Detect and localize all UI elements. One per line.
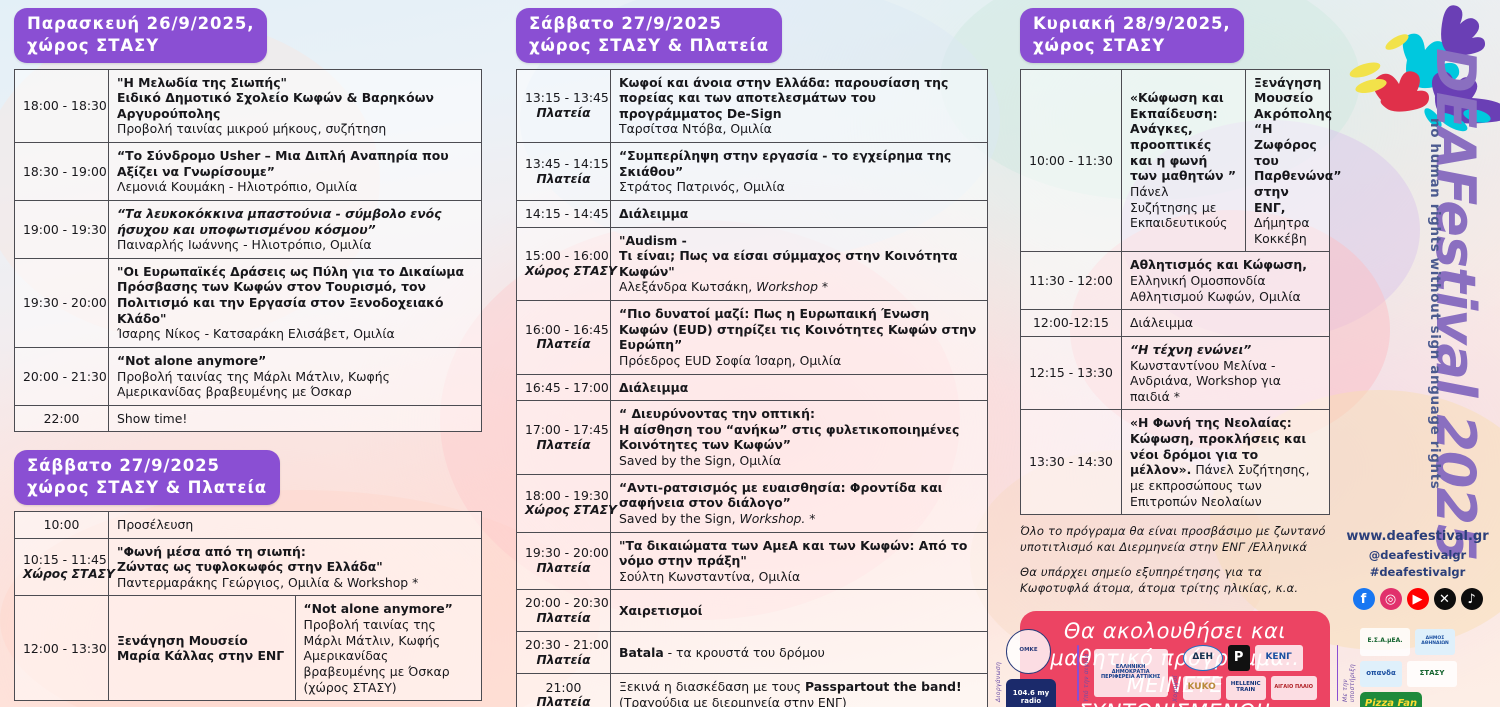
venue-text: Πλατεία <box>525 337 602 352</box>
logo-radio: 104.6 my radio <box>1006 679 1056 707</box>
cell-event: “ Διευρύνοντας την οπτική: Η αίσθηση του… <box>611 401 988 475</box>
column-friday: Παρασκευή 26/9/2025, χώρος ΣΤΑΣΥ 18:00 -… <box>14 8 482 701</box>
venue-text: Πλατεία <box>525 172 602 187</box>
social-handle[interactable]: @deafestivalgr <box>1335 547 1500 564</box>
table-row: 13:30 - 14:30 «Η Φωνή της Νεολαίας: Κώφω… <box>1021 410 1330 515</box>
cell-time: 10:00 - 11:30 <box>1021 69 1122 252</box>
logo-pizza-fan: Pizza Fan <box>1360 692 1422 707</box>
cell-time: 11:30 - 12:00 <box>1021 252 1122 310</box>
day-badge-friday: Παρασκευή 26/9/2025, χώρος ΣΤΑΣΥ <box>14 8 267 63</box>
table-row: 18:00 - 18:30 "Η Μελωδία της Σιωπής" Ειδ… <box>15 69 482 143</box>
event-sub: Στράτος Πατρινός, Ομιλία <box>619 179 785 194</box>
day-badge-saturday: Σάββατο 27/9/2025 χώρος ΣΤΑΣΥ & Πλατεία <box>516 8 782 63</box>
cell-event: “Πιο δυνατοί μαζί: Πως η Ευρωπαική Ένωση… <box>611 301 988 375</box>
logo-p: P <box>1228 645 1250 671</box>
cell-time: 12:00 - 13:30 <box>15 596 109 701</box>
festival-tagline: no human rights without sign anguage rig… <box>1427 118 1443 489</box>
logo-hellenic-train: HELLENIC TRAIN <box>1226 676 1266 700</box>
event-sub: Show time! <box>117 411 187 426</box>
cell-time: 22:00 <box>15 405 109 432</box>
cell-event: Κωφοί και άνοια στην Ελλάδα: παρουσίαση … <box>611 69 988 143</box>
table-row: 20:00 - 21:30 “Not alone anymore” Προβολ… <box>15 347 482 405</box>
venue-text: Πλατεία <box>525 611 602 626</box>
x-icon[interactable]: ✕ <box>1434 588 1456 610</box>
event-title: “Not alone anymore” <box>117 353 266 368</box>
accessibility-note-1: Όλο το πρόγραμα θα είναι προσβάσιμο με ζ… <box>1020 524 1330 556</box>
time-text: 13:45 - 14:15 <box>525 156 609 171</box>
cell-time: 16:00 - 16:45Πλατεία <box>517 301 611 375</box>
cell-event: “Συμπερίληψη στην εργασία - το εγχείρημα… <box>611 143 988 201</box>
cell-time: 12:15 - 13:30 <box>1021 336 1122 410</box>
cell-event: Show time! <box>109 405 482 432</box>
cell-time: 13:45 - 14:15Πλατεία <box>517 143 611 201</box>
table-row: 20:00 - 20:30ΠλατείαΧαιρετισμοί <box>517 590 988 632</box>
table-row: 12:15 - 13:30 “Η τέχνη ενώνει” Κωνσταντί… <box>1021 336 1330 410</box>
cell-time: 13:30 - 14:30 <box>1021 410 1122 515</box>
day-badge-sunday: Κυριακή 28/9/2025, χώρος ΣΤΑΣΥ <box>1020 8 1244 63</box>
cell-time: 18:00 - 18:30 <box>15 69 109 143</box>
time-text: 14:15 - 14:45 <box>525 206 609 221</box>
event-title: Διάλειμμα <box>619 206 688 221</box>
time-text: 17:00 - 17:45 <box>525 422 609 437</box>
venue-text: Χώρος ΣΤΑΣΥ <box>525 264 602 279</box>
event-sub: Ταρσίτσα Ντόβα, Ομιλία <box>619 121 772 136</box>
column-sunday: Κυριακή 28/9/2025, χώρος ΣΤΑΣΥ 10:00 - 1… <box>1020 8 1330 707</box>
event-sub: Προβολή ταινίας της Μάρλι Μάτλιν, Κωφής … <box>117 369 390 400</box>
cell-time: 16:45 - 17:00 <box>517 374 611 401</box>
venue-text: Πλατεία <box>525 106 602 121</box>
time-text: 18:00 - 19:30 <box>525 488 609 503</box>
cell-event: “Το Σύνδρομο Usher – Μια Διπλή Αναπηρία … <box>109 143 482 201</box>
facebook-icon[interactable]: f <box>1353 588 1375 610</box>
table-row: 19:30 - 20:00Πλατεία"Τα δικαιώματα των Α… <box>517 532 988 590</box>
logo-opanda: οπανδα <box>1360 661 1402 687</box>
cell-event: Προσέλευση <box>109 511 482 538</box>
cell-time: 19:00 - 19:30 <box>15 200 109 258</box>
time-text: 13:15 - 13:45 <box>525 90 609 105</box>
logo-dei: ΔΕΗ <box>1183 645 1223 671</box>
logo-dimos-athinaion: ΔΗΜΟΣ ΑΘΗΝΑΙΩΝ <box>1415 629 1455 655</box>
event-title: Ξενάγηση Μουσείο Ακρόπολης “Η Ζωφόρος το… <box>1254 75 1341 215</box>
social-links: f◎▶✕♪ <box>1335 588 1500 610</box>
instagram-icon[interactable]: ◎ <box>1380 588 1402 610</box>
column-saturday: Σάββατο 27/9/2025 χώρος ΣΤΑΣΥ & Πλατεία … <box>516 8 988 707</box>
badge-line2: χώρος ΣΤΑΣΥ & Πλατεία <box>529 35 769 57</box>
event-title: “Συμπερίληψη στην εργασία - το εγχείρημα… <box>619 148 951 179</box>
time-text: 20:30 - 21:00 <box>525 637 609 652</box>
event-title: “Τα λευκοκόκκινα μπαστούνια - σύμβολο εν… <box>117 206 442 237</box>
event-title: “Πιο δυνατοί μαζί: Πως η Ευρωπαική Ένωση… <box>619 306 976 352</box>
venue-text: Πλατεία <box>525 695 602 707</box>
cell-time: 10:00 <box>15 511 109 538</box>
event-title: Διάλειμμα <box>619 380 688 395</box>
table-row: 19:00 - 19:30 “Τα λευκοκόκκινα μπαστούνι… <box>15 200 482 258</box>
schedule-table-sunday: 10:00 - 11:30 «Κώφωση και Εκπαίδευση: Αν… <box>1020 69 1330 516</box>
cell-event: Αθλητισμός και Κώφωση, Ελληνική Ομοσπονδ… <box>1122 252 1330 310</box>
cell-event: Διάλειμμα <box>1122 310 1330 337</box>
table-row: 16:00 - 16:45Πλατεία“Πιο δυνατοί μαζί: Π… <box>517 301 988 375</box>
venue-text: Πλατεία <box>525 561 602 576</box>
badge-line2: χώρος ΣΤΑΣΥ & Πλατεία <box>27 477 267 499</box>
event-sub: Διάλειμμα <box>1130 315 1193 330</box>
youtube-icon[interactable]: ▶ <box>1407 588 1429 610</box>
event-sub: Σούλτη Κωνσταντίνα, Ομιλία <box>619 569 800 584</box>
cell-time: 19:30 - 20:00 <box>15 258 109 347</box>
table-row: 22:00 Show time! <box>15 405 482 432</box>
cell-time: 13:15 - 13:45Πλατεία <box>517 69 611 143</box>
cell-event: "Φωνή μέσα από τη σιωπή: Ζώντας ως τυφλο… <box>109 538 482 596</box>
table-row: 14:15 - 14:45Διάλειμμα <box>517 200 988 227</box>
event-sub: Ίσαρης Νίκος - Κατσαράκη Ελισάβετ, Ομιλί… <box>117 326 395 341</box>
table-row: 15:00 - 16:00Χώρος ΣΤΑΣΥ"Audism - Τι είν… <box>517 227 988 301</box>
event-sub: Πάνελ Συζήτησης με Εκπαιδευτικούς <box>1130 184 1227 230</box>
event-sub: Προβολή ταινίας μικρού μήκους, συζήτηση <box>117 121 386 136</box>
sponsor-group-sponsors: ΔΕΗ P ΚΕΝΓ KUKO HELLENIC TRAIN ΑΙΓΑΙΟ ΠΛ… <box>1183 645 1333 700</box>
divider <box>1337 645 1338 701</box>
table-row: 18:30 - 19:00 “Το Σύνδρομο Usher – Μια Δ… <box>15 143 482 201</box>
divider <box>1077 645 1078 701</box>
time-text: 15:00 - 16:00 <box>525 248 609 263</box>
event-title: “Αντι-ρατσισμός με ευαισθησία: Φροντίδα … <box>619 480 943 511</box>
event-prefix: Ξεκινά η διασκέδαση με τους <box>619 679 805 694</box>
sponsor-label-organiser: Διοργάνωση <box>995 644 1002 702</box>
schedule-table-saturday-left: 10:00 Προσέλευση 10:15 - 11:45 Χώρος ΣΤΑ… <box>14 511 482 701</box>
table-row: 11:30 - 12:00 Αθλητισμός και Κώφωση, Ελλ… <box>1021 252 1330 310</box>
table-row: 10:00 Προσέλευση <box>15 511 482 538</box>
cell-event: Χαιρετισμοί <box>611 590 988 632</box>
event-title: Αθλητισμός και Κώφωση, <box>1130 257 1307 272</box>
event-sub: Saved by the Sign, Ομιλία <box>619 453 781 468</box>
table-row: 10:00 - 11:30 «Κώφωση και Εκπαίδευση: Αν… <box>1021 69 1330 252</box>
time-text: 19:30 - 20:00 <box>525 545 609 560</box>
time-text: 20:00 - 20:30 <box>525 595 609 610</box>
event-title: «Κώφωση και Εκπαίδευση: Ανάγκες, προοπτι… <box>1130 90 1236 183</box>
time-text: 21:00 <box>546 680 582 695</box>
sponsor-label-support: Με την υποστήριξη <box>1342 644 1356 702</box>
cell-event: "Τα δικαιώματα των ΑμεΑ και των Κωφών: Α… <box>611 532 988 590</box>
web-links: www.deafestival.gr @deafestivalgr #deafe… <box>1335 528 1500 580</box>
sponsor-label-sponsors: Χορηγοί <box>1172 644 1179 702</box>
website-url[interactable]: www.deafestival.gr <box>1335 528 1500 547</box>
hashtag[interactable]: #deafestivalgr <box>1335 564 1500 581</box>
logo-keng: ΚΕΝΓ <box>1255 645 1303 671</box>
cell-event: Διάλειμμα <box>611 200 988 227</box>
table-row: 17:00 - 17:45Πλατεία“ Διευρύνοντας την ο… <box>517 401 988 475</box>
event-title: Passpartout the band! <box>805 679 962 694</box>
cell-time: 21:00Πλατεία <box>517 674 611 707</box>
event-sub: Saved by the Sign, <box>619 511 740 526</box>
event-sub: Πρόεδρος EUD Σοφία Ίσαρη, Ομιλία <box>619 353 841 368</box>
cell-time: 19:30 - 20:00Πλατεία <box>517 532 611 590</box>
logo-esamea: Ε.Σ.Α.μΕΑ. <box>1360 628 1410 656</box>
time-text: 16:00 - 16:45 <box>525 322 609 337</box>
event-sub: Προβολή ταινίας της Μάρλι Μάτλιν, Κωφής … <box>304 617 450 695</box>
logo-kuko: KUKO <box>1183 676 1221 700</box>
event-sub-italic: Workshop * <box>756 279 828 294</box>
event-sub: Παιναρλής Ιωάννης - Ηλιοτρόπιο, Ομιλία <box>117 237 372 252</box>
venue-text: Πλατεία <box>525 438 602 453</box>
event-sub: (Τραγούδια με διερμηνεία στην ΕΝΓ) <box>619 695 847 707</box>
event-sub: Προσέλευση <box>117 517 193 532</box>
event-title: Batala <box>619 645 664 660</box>
event-title: "Audism - Τι είναι; Πως να είσαι σύμμαχο… <box>619 233 958 279</box>
event-sub: Κωνσταντίνου Μελίνα - Ανδριάνα, Workshop… <box>1130 358 1281 404</box>
table-row: 12:00 - 13:30 Ξενάγηση Μουσείο Μαρία Κάλ… <box>15 596 482 701</box>
table-row: 19:30 - 20:00 "Οι Ευρωπαϊκές Δράσεις ως … <box>15 258 482 347</box>
event-title: “Το Σύνδρομο Usher – Μια Διπλή Αναπηρία … <box>117 148 449 179</box>
cell-event: "Audism - Τι είναι; Πως να είσαι σύμμαχο… <box>611 227 988 301</box>
cell-time: 17:00 - 17:45Πλατεία <box>517 401 611 475</box>
table-row: 13:15 - 13:45ΠλατείαΚωφοί και άνοια στην… <box>517 69 988 143</box>
event-sub: Παντερμαράκης Γεώργιος, Ομιλία & Worksho… <box>117 575 418 590</box>
event-title: “ Διευρύνοντας την οπτική: Η αίσθηση του… <box>619 406 959 452</box>
event-title: "Οι Ευρωπαϊκές Δράσεις ως Πύλη για το Δι… <box>117 264 464 326</box>
cell-time: 14:15 - 14:45 <box>517 200 611 227</box>
event-sub: Αλεξάνδρα Κωτσάκη, <box>619 279 756 294</box>
tiktok-icon[interactable]: ♪ <box>1461 588 1483 610</box>
sponsor-strip: Διοργάνωση ΟΜΚΕ 104.6 my radio Υπό την α… <box>995 638 1500 707</box>
badge-line1: Παρασκευή 26/9/2025, <box>27 14 254 33</box>
cell-event: "Οι Ευρωπαϊκές Δράσεις ως Πύλη για το Δι… <box>109 258 482 347</box>
schedule-table-friday: 18:00 - 18:30 "Η Μελωδία της Σιωπής" Ειδ… <box>14 69 482 433</box>
event-sub: Δήμητρα Κοκκέβη <box>1254 215 1310 246</box>
event-title: Κωφοί και άνοια στην Ελλάδα: παρουσίαση … <box>619 75 948 121</box>
cell-event: “Η τέχνη ενώνει” Κωνσταντίνου Μελίνα - Α… <box>1122 336 1330 410</box>
venue-text: Χώρος ΣΤΑΣΥ <box>525 503 602 518</box>
cell-time: 18:00 - 19:30Χώρος ΣΤΑΣΥ <box>517 474 611 532</box>
badge-line1: Κυριακή 28/9/2025, <box>1033 14 1231 33</box>
event-sub: Ελληνική Ομοσπονδία Αθλητισμού Κωφών, Ομ… <box>1130 273 1301 304</box>
badge-line2: χώρος ΣΤΑΣΥ <box>27 35 254 57</box>
schedule-table-saturday: 13:15 - 13:45ΠλατείαΚωφοί και άνοια στην… <box>516 69 988 707</box>
venue-text: Πλατεία <box>525 653 602 668</box>
cell-tour: Ξενάγηση Μουσείο Ακρόπολης “Η Ζωφόρος το… <box>1246 69 1330 252</box>
event-title: Χαιρετισμοί <box>619 603 703 618</box>
sponsor-group-auspices: ΕΛΛΗΝΙΚΗ ΔΗΜΟΚΡΑΤΙΑ ΠΕΡΙΦΕΡΕΙΑ ΑΤΤΙΚΗΣ <box>1094 649 1168 697</box>
table-row: 21:00ΠλατείαΞεκινά η διασκέδαση με τους … <box>517 674 988 707</box>
sponsor-label-auspices: Υπό την αιγίδα <box>1083 644 1090 702</box>
cell-event: Διάλειμμα <box>611 374 988 401</box>
table-row: 20:30 - 21:00Πλατεία Batala - τα κρουστά… <box>517 632 988 674</box>
cell-event: Ξεκινά η διασκέδαση με τους Passpartout … <box>611 674 988 707</box>
cell-event: “Not alone anymore” Προβολή ταινίας της … <box>109 347 482 405</box>
cell-event: “Αντι-ρατσισμός με ευαισθησία: Φροντίδα … <box>611 474 988 532</box>
event-sub-italic: Workshop. * <box>740 511 816 526</box>
table-row: 10:15 - 11:45 Χώρος ΣΤΑΣΥ "Φωνή μέσα από… <box>15 538 482 596</box>
cell-event: “Τα λευκοκόκκινα μπαστούνια - σύμβολο εν… <box>109 200 482 258</box>
table-row: 13:45 - 14:15Πλατεία“Συμπερίληψη στην ερ… <box>517 143 988 201</box>
cell-time: 20:30 - 21:00Πλατεία <box>517 632 611 674</box>
event-sub-inline: - τα κρουστά του δρόμου <box>664 645 825 660</box>
logo-omke: ΟΜΚΕ <box>1006 629 1051 674</box>
venue-text: Χώρος ΣΤΑΣΥ <box>23 567 100 582</box>
sponsor-group-support: Ε.Σ.Α.μΕΑ. ΔΗΜΟΣ ΑΘΗΝΑΙΩΝ οπανδα ΣΤΑΣΥ P… <box>1360 628 1500 707</box>
brand-rail: DEAFestival 2025 no human rights without… <box>1335 0 1500 707</box>
time-text: 10:15 - 11:45 <box>23 552 107 567</box>
sponsor-group-organiser: ΟΜΚΕ 104.6 my radio <box>1006 629 1073 707</box>
event-title: “Not alone anymore” <box>304 601 453 616</box>
table-row: 12:00-12:15 Διάλειμμα <box>1021 310 1330 337</box>
cell-event: "Η Μελωδία της Σιωπής" Ειδικό Δημοτικό Σ… <box>109 69 482 143</box>
cell-panel: «Κώφωση και Εκπαίδευση: Ανάγκες, προοπτι… <box>1122 69 1246 252</box>
badge-line1: Σάββατο 27/9/2025 <box>529 14 722 33</box>
cell-time: 20:00 - 20:30Πλατεία <box>517 590 611 632</box>
badge-line2: χώρος ΣΤΑΣΥ <box>1033 35 1231 57</box>
time-text: 16:45 - 17:00 <box>525 380 609 395</box>
table-row: 16:45 - 17:00Διάλειμμα <box>517 374 988 401</box>
event-title: "Φωνή μέσα από τη σιωπή: Ζώντας ως τυφλο… <box>117 544 383 575</box>
event-sub: Λεμονιά Κουμάκη - Ηλιοτρόπιο, Ομιλία <box>117 179 357 194</box>
table-row: 18:00 - 19:30Χώρος ΣΤΑΣΥ“Αντι-ρατσισμός … <box>517 474 988 532</box>
accessibility-note-2: Θα υπάρχει σημείο εξυπηρέτησης για τα Κω… <box>1020 565 1330 597</box>
event-title: "Η Μελωδία της Σιωπής" Ειδικό Δημοτικό Σ… <box>117 75 434 121</box>
cell-event: “Not alone anymore” Προβολή ταινίας της … <box>295 596 482 701</box>
cell-tour: Ξενάγηση Μουσείο Μαρία Κάλλας στην ΕΝΓ <box>109 596 296 701</box>
logo-stasy: ΣΤΑΣΥ <box>1407 661 1457 687</box>
event-title: "Τα δικαιώματα των ΑμεΑ και των Κωφών: Α… <box>619 538 967 569</box>
cell-event: Batala - τα κρουστά του δρόμου <box>611 632 988 674</box>
cell-time: 18:30 - 19:00 <box>15 143 109 201</box>
cell-event: «Η Φωνή της Νεολαίας: Κώφωση, προκλήσεις… <box>1122 410 1330 515</box>
logo-attica-region: ΕΛΛΗΝΙΚΗ ΔΗΜΟΚΡΑΤΙΑ ΠΕΡΙΦΕΡΕΙΑ ΑΤΤΙΚΗΣ <box>1094 649 1168 697</box>
event-title: “Η τέχνη ενώνει” <box>1130 342 1251 357</box>
cell-time: 10:15 - 11:45 Χώρος ΣΤΑΣΥ <box>15 538 109 596</box>
cell-time: 20:00 - 21:30 <box>15 347 109 405</box>
logo-aigaio-plast: ΑΙΓΑΙΟ ΠΛΑΙΟ <box>1271 676 1317 700</box>
day-badge-saturday-left: Σάββατο 27/9/2025 χώρος ΣΤΑΣΥ & Πλατεία <box>14 450 280 505</box>
cell-time: 12:00-12:15 <box>1021 310 1122 337</box>
cell-time: 15:00 - 16:00Χώρος ΣΤΑΣΥ <box>517 227 611 301</box>
badge-line1: Σάββατο 27/9/2025 <box>27 456 220 475</box>
